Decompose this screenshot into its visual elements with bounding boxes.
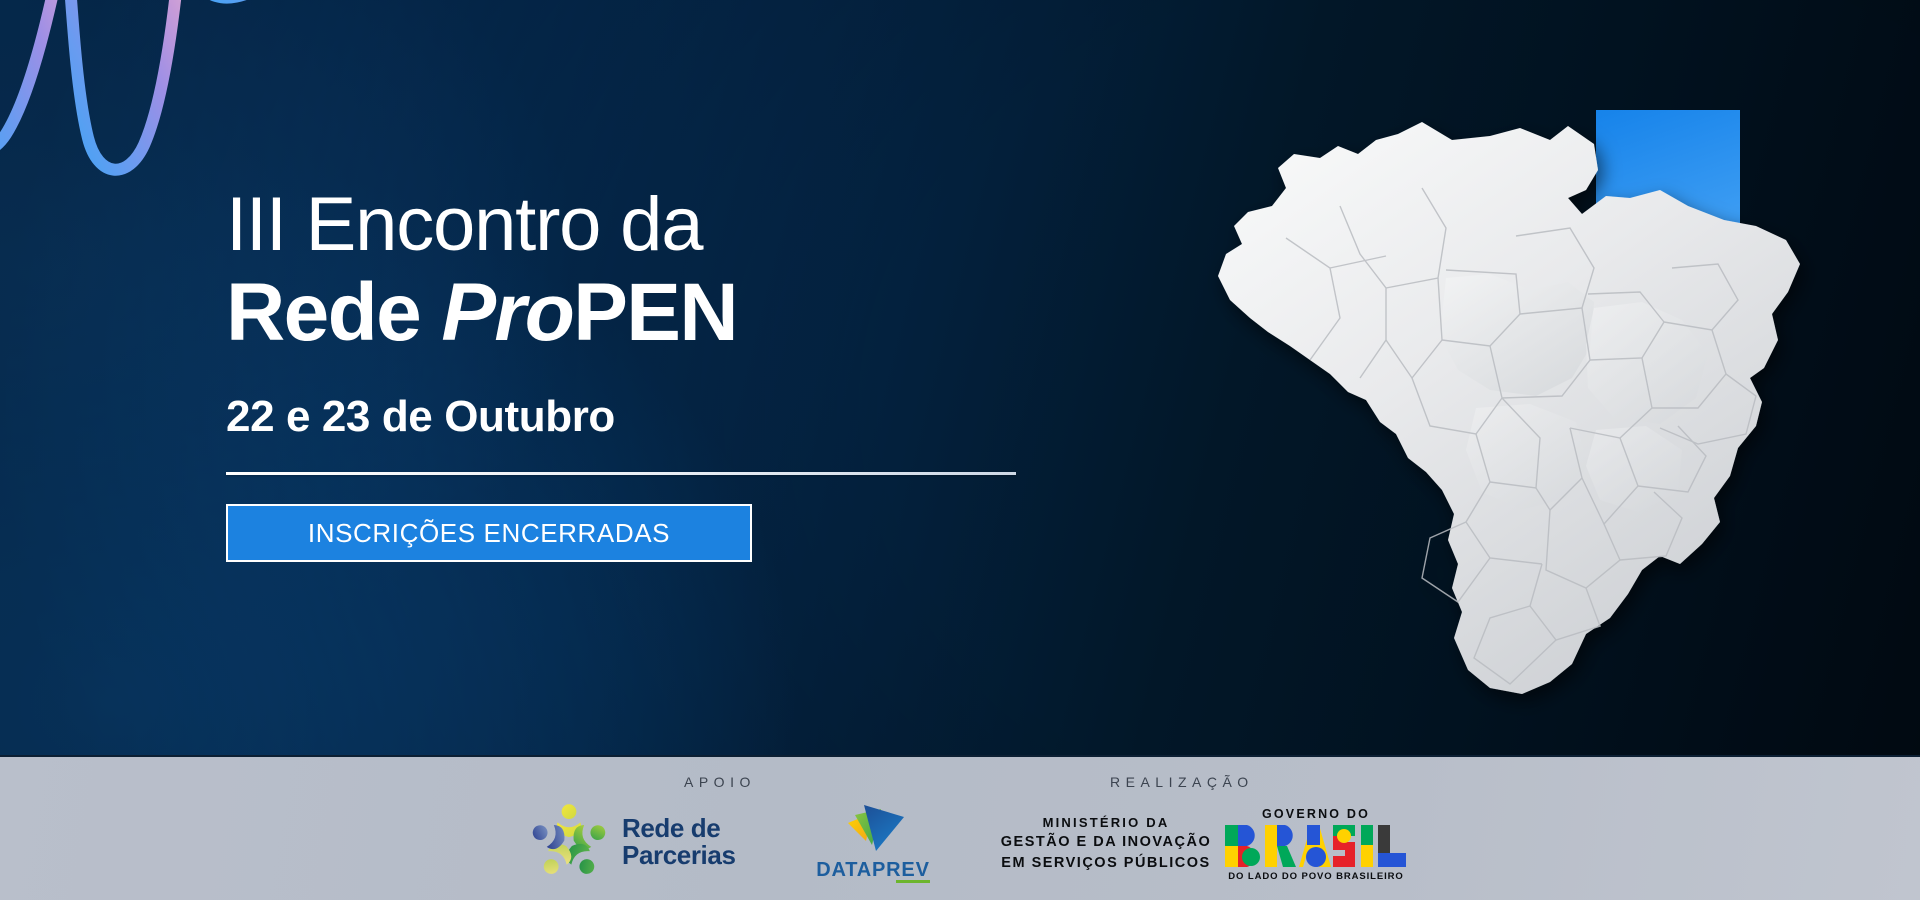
- event-title-line1: III Encontro da: [226, 186, 1046, 264]
- dataprev-logo[interactable]: DATAPREV: [808, 801, 938, 882]
- realizacao-label: REALIZAÇÃO: [1110, 774, 1254, 790]
- headline-block: III Encontro da Rede ProPEN 22 e 23 de O…: [226, 186, 1046, 562]
- title-pro: Pro: [441, 267, 573, 358]
- rede-parcerias-mark-icon: [528, 801, 610, 883]
- event-dates: 22 e 23 de Outubro: [226, 392, 1046, 442]
- ministerio-line1: MINISTÉRIO DA: [990, 814, 1222, 832]
- brazil-map: ProPEN: [1180, 78, 1820, 738]
- dataprev-wordmark-text: DATAPREV: [816, 859, 929, 881]
- rede-parcerias-wordmark: Rede de Parcerias: [622, 815, 736, 869]
- governo-brasil-bottom: DO LADO DO POVO BRASILEIRO: [1222, 871, 1410, 882]
- rede-parcerias-logo[interactable]: Rede de Parcerias: [528, 801, 736, 883]
- ministerio-line3: EM SERVIÇOS PÚBLICOS: [990, 853, 1222, 874]
- apoio-label: APOIO: [684, 774, 756, 790]
- registration-status-button[interactable]: INSCRIÇÕES ENCERRADAS: [226, 504, 752, 562]
- dataprev-mark-icon: [836, 801, 910, 857]
- sponsors-footer: APOIO REALIZAÇÃO: [0, 755, 1920, 900]
- title-rede: Rede: [226, 267, 441, 358]
- title-pen: PEN: [573, 267, 737, 358]
- event-banner: ProPEN III Encontro da Rede ProPEN 22 e …: [0, 0, 1920, 900]
- divider-rule: [226, 472, 1016, 475]
- event-title-line2: Rede ProPEN: [226, 270, 1046, 357]
- brazil-map-svg: [1180, 78, 1820, 738]
- ministerio-line2: GESTÃO E DA INOVAÇÃO: [990, 832, 1222, 853]
- governo-brasil-top: GOVERNO DO: [1222, 807, 1410, 821]
- dataprev-underline: [896, 880, 930, 883]
- rede-parcerias-line2: Parcerias: [622, 842, 736, 869]
- dataprev-wordmark: DATAPREV: [816, 859, 929, 882]
- ministerio-wordmark: MINISTÉRIO DA GESTÃO E DA INOVAÇÃO EM SE…: [990, 814, 1222, 874]
- rede-parcerias-line1: Rede de: [622, 815, 736, 842]
- governo-brasil-mark-icon: [1223, 824, 1409, 868]
- governo-brasil-logo[interactable]: GOVERNO DO: [1222, 807, 1410, 882]
